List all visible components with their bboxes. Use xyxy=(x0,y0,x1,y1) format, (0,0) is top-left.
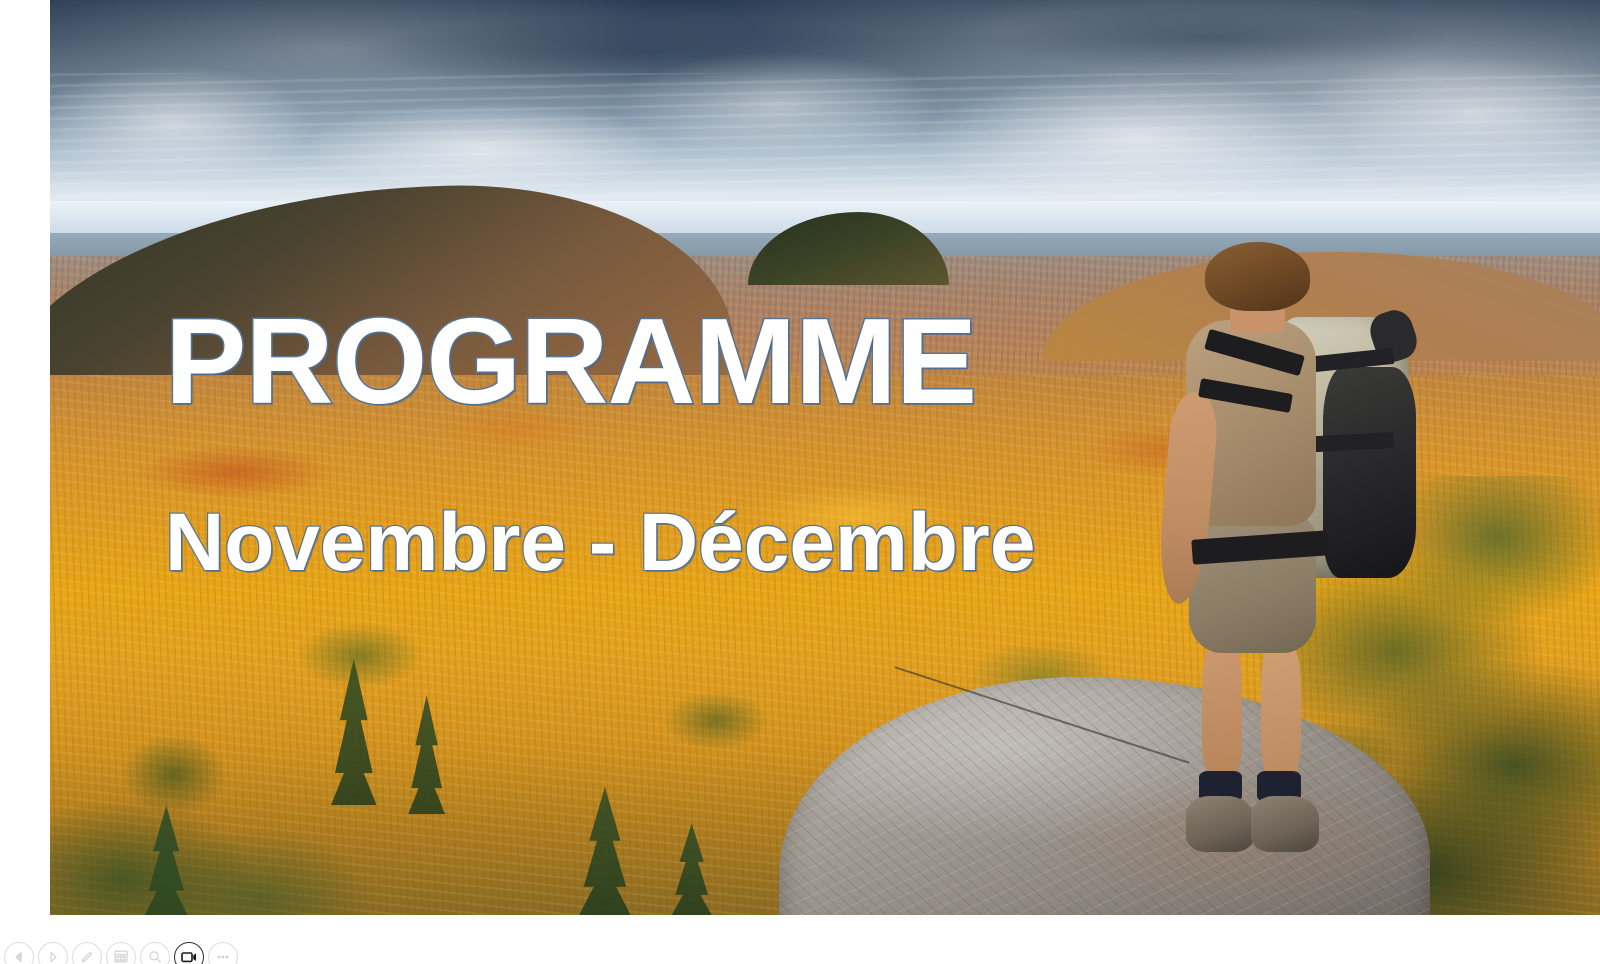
hiker-boot-right xyxy=(1251,796,1319,852)
ellipsis-icon xyxy=(214,953,232,961)
slide-canvas[interactable]: PROGRAMME Novembre - Décembre xyxy=(50,0,1600,915)
next-slide-button[interactable] xyxy=(38,942,68,964)
more-options-button[interactable] xyxy=(208,942,238,964)
hiker-leg-right xyxy=(1261,641,1301,784)
grid-icon xyxy=(113,949,129,964)
chevron-left-icon xyxy=(12,950,26,964)
left-shrub-layer xyxy=(50,732,453,915)
slide-grid-button[interactable] xyxy=(106,942,136,964)
present-button[interactable] xyxy=(174,942,204,964)
chevron-right-icon xyxy=(46,950,60,964)
hiker-leg-left xyxy=(1202,641,1242,784)
pen-icon xyxy=(79,949,95,964)
hiker-boot-left xyxy=(1186,796,1254,852)
bottom-toolbar xyxy=(0,915,1600,964)
presentation-viewer: PROGRAMME Novembre - Décembre xyxy=(0,0,1600,964)
hiker-figure xyxy=(1112,242,1422,864)
hiker-head xyxy=(1205,242,1310,310)
cloud-streaks-layer xyxy=(50,73,1600,219)
slide-background-photo xyxy=(50,0,1600,915)
zoom-button[interactable] xyxy=(140,942,170,964)
video-camera-icon xyxy=(180,950,198,964)
annotate-button[interactable] xyxy=(72,942,102,964)
magnifier-icon xyxy=(147,949,163,964)
previous-slide-button[interactable] xyxy=(4,942,34,964)
backpack-dark-panel xyxy=(1323,367,1416,579)
